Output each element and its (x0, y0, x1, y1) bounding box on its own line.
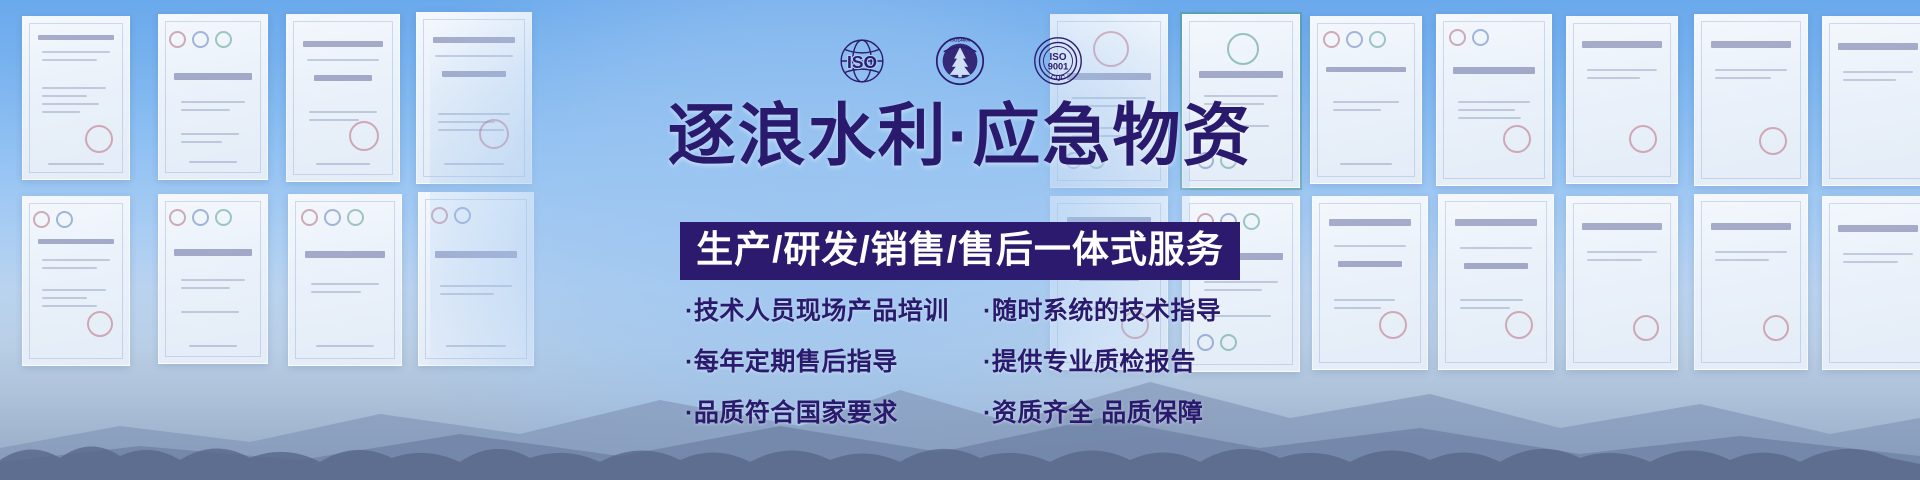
feature-item: ·提供专业质检报告 (983, 347, 1235, 377)
banner-title: 逐浪水利·应急物资 (0, 100, 1920, 172)
iso-14000-badge: ISO14000 (931, 32, 989, 90)
promo-banner: ISO ISO14000 ISO (0, 0, 1920, 480)
treeline-silhouette (0, 420, 1920, 480)
feature-item: ·品质符合国家要求 (685, 398, 967, 428)
certification-badges: ISO ISO14000 ISO (690, 30, 1230, 92)
banner-subtitle: 生产/研发/销售/售后一体式服务 (680, 222, 1240, 280)
feature-item: ·资质齐全 品质保障 (983, 398, 1235, 428)
iso-globe-badge: ISO (833, 32, 891, 90)
svg-text:ISO: ISO (847, 52, 877, 72)
svg-text:ISO14000: ISO14000 (950, 37, 971, 42)
feature-item: ·技术人员现场产品培训 (685, 296, 967, 326)
feature-list: ·技术人员现场产品培训 ·随时系统的技术指导 ·每年定期售后指导 ·提供专业质检… (0, 296, 1920, 428)
svg-text:CQC: CQC (1051, 75, 1066, 82)
svg-text:9001: 9001 (1048, 62, 1069, 72)
feature-item: ·随时系统的技术指导 (983, 296, 1235, 326)
iso-9001-cqc-badge: ISO 9001 CQC (1029, 32, 1087, 90)
feature-item: ·每年定期售后指导 (685, 347, 967, 377)
banner-subtitle-wrap: 生产/研发/销售/售后一体式服务 (0, 222, 1920, 280)
